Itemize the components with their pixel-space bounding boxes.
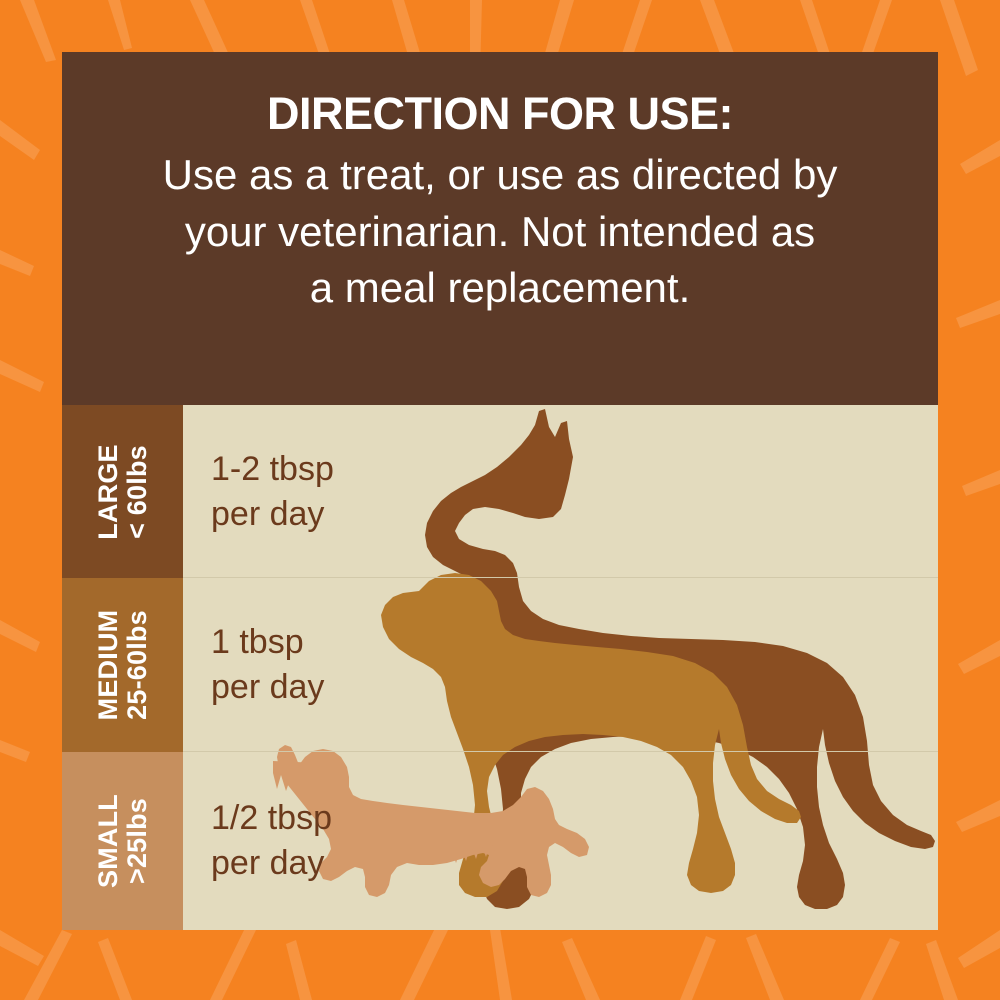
sidebar-label-text: MEDIUM 25-60lbs [93,610,151,721]
dosage-text: 1/2 tbsp per day [211,796,938,886]
table-row: SMALL >25lbs 1/2 tbsp per day [62,752,938,930]
table-row: LARGE < 60lbs 1-2 tbsp per day [62,405,938,578]
size-name: MEDIUM [93,610,122,721]
dosage-frequency: per day [211,841,938,886]
instructions-line-2: your veterinarian. Not intended as [84,204,916,260]
poster-canvas: DIRECTION FOR USE: Use as a treat, or us… [0,0,1000,1000]
sidebar-label-text: LARGE < 60lbs [93,444,151,540]
dosage-frequency: per day [211,492,938,537]
size-weight: 25-60lbs [123,610,152,721]
direction-for-use-card: DIRECTION FOR USE: Use as a treat, or us… [62,52,938,930]
size-label-medium: MEDIUM 25-60lbs [62,578,183,752]
size-label-small: SMALL >25lbs [62,752,183,930]
size-label-large: LARGE < 60lbs [62,405,183,578]
page-title: DIRECTION FOR USE: [80,90,920,137]
feeding-guide-table: LARGE < 60lbs 1-2 tbsp per day MEDIUM 25… [62,405,938,930]
instructions-line-1: Use as a treat, or use as directed by [84,147,916,203]
dosage-amount: 1/2 tbsp [211,796,938,841]
dosage-frequency: per day [211,665,938,710]
table-row: MEDIUM 25-60lbs 1 tbsp per day [62,578,938,752]
dosage-cell-medium: 1 tbsp per day [183,578,938,752]
dosage-text: 1-2 tbsp per day [211,447,938,537]
dosage-amount: 1 tbsp [211,620,938,665]
card-header: DIRECTION FOR USE: Use as a treat, or us… [62,52,938,405]
dosage-text: 1 tbsp per day [211,620,938,710]
size-name: LARGE [93,444,122,540]
sidebar-label-text: SMALL >25lbs [93,794,151,888]
dosage-cell-large: 1-2 tbsp per day [183,405,938,578]
row-divider [183,577,938,578]
size-name: SMALL [93,794,122,888]
dosage-cell-small: 1/2 tbsp per day [183,752,938,930]
instructions-line-3: a meal replacement. [84,260,916,316]
dosage-amount: 1-2 tbsp [211,447,938,492]
instructions-text: Use as a treat, or use as directed by yo… [80,147,920,316]
size-weight: >25lbs [123,794,152,888]
size-weight: < 60lbs [123,444,152,540]
row-divider [183,751,938,752]
